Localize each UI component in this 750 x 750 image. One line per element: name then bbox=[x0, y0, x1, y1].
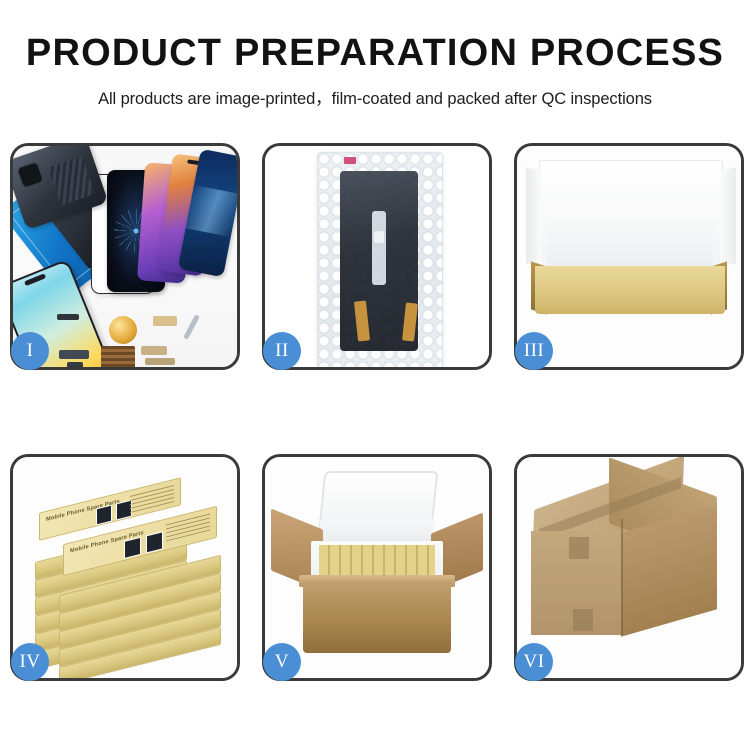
carton-tab-top-icon bbox=[569, 537, 589, 559]
part-flex-cable-icon bbox=[153, 316, 177, 326]
process-step-panel-3: III bbox=[514, 143, 744, 370]
step-5-image bbox=[265, 457, 489, 678]
step-3-image bbox=[517, 146, 741, 367]
step-badge-6: VI bbox=[515, 643, 553, 681]
header: PRODUCT PREPARATION PROCESS All products… bbox=[0, 0, 750, 109]
step-4-image: Mobile Phone Spare Parts Mobile Phone Sp… bbox=[13, 457, 237, 678]
qc-sticker-icon bbox=[344, 157, 356, 164]
part-module-icon bbox=[67, 362, 83, 367]
process-step-panel-6: VI bbox=[514, 454, 744, 681]
part-speaker-coil-icon bbox=[109, 316, 137, 344]
foam-sheet-icon bbox=[547, 204, 713, 270]
box-screen-image-3 bbox=[124, 537, 141, 559]
process-step-panel-4: Mobile Phone Spare Parts Mobile Phone Sp… bbox=[10, 454, 240, 681]
process-step-grid: I II III bbox=[10, 143, 745, 681]
infographic-page: PRODUCT PREPARATION PROCESS All products… bbox=[0, 0, 750, 750]
process-step-panel-2: II bbox=[262, 143, 492, 370]
page-subtitle: All products are image-printed，film-coat… bbox=[0, 85, 750, 109]
part-chip-grid-icon bbox=[101, 346, 135, 367]
carton-front-icon bbox=[303, 581, 451, 653]
part-tweezer-icon bbox=[183, 314, 200, 339]
box-stack-icon: Mobile Phone Spare Parts Mobile Phone Sp… bbox=[23, 483, 235, 663]
carton-edge-icon bbox=[621, 519, 623, 635]
box-spec-lines-1 bbox=[130, 484, 174, 513]
kraft-box-front-icon bbox=[535, 266, 725, 314]
box-screen-image-4 bbox=[146, 531, 163, 553]
bubble-wrap-bag-icon bbox=[317, 152, 443, 367]
step-badge-4: IV bbox=[11, 643, 49, 681]
carton-tab-bottom-icon bbox=[573, 609, 593, 631]
box-screen-image-1 bbox=[96, 505, 112, 526]
part-connector-icon bbox=[57, 314, 79, 320]
process-step-panel-5: V bbox=[262, 454, 492, 681]
step-badge-2: II bbox=[263, 332, 301, 370]
part-gold-ribbon-icon bbox=[145, 358, 175, 365]
step-1-image bbox=[13, 146, 237, 367]
box-spec-lines-2 bbox=[166, 513, 210, 542]
page-title: PRODUCT PREPARATION PROCESS bbox=[0, 34, 750, 72]
part-flex-strip-icon bbox=[59, 350, 89, 359]
part-gold-flex-icon bbox=[141, 346, 167, 355]
step-6-image bbox=[517, 457, 741, 678]
step-2-image bbox=[265, 146, 489, 367]
process-step-panel-1: I bbox=[10, 143, 240, 370]
step-badge-5: V bbox=[263, 643, 301, 681]
step-badge-3: III bbox=[515, 332, 553, 370]
step-badge-1: I bbox=[11, 332, 49, 370]
